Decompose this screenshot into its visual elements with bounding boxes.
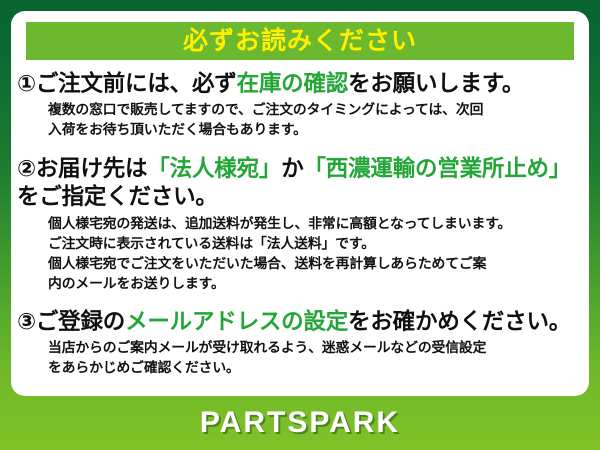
notice-item-1: ①ご注文前には、必ず在庫の確認をお願いします。 複数の窓口で販売してますので、ご… <box>11 70 589 140</box>
notice-item-2-text-before: お届け先は <box>36 156 148 181</box>
notice-item-3-number: ③ <box>17 309 36 334</box>
brand-name: PARTSPARK <box>200 406 400 440</box>
notice-item-2-highlight-1: 「法人様宛」 <box>147 156 281 181</box>
notice-item-3-subtext: 当店からのご案内メールが受け取れるよう、迷惑メールなどの受信設定 をあらかじめご… <box>48 338 581 378</box>
notice-item-2-highlight-2: 「西濃運輸の営業所止め」 <box>304 156 572 181</box>
notice-item-1-text-after: をお願いします。 <box>348 71 524 96</box>
notice-item-3: ③ご登録のメールアドレスの設定をお確かめください。 当店からのご案内メールが受け… <box>11 308 589 378</box>
notice-item-2-subline-4: 内のメールをお送りします。 <box>48 274 581 294</box>
notice-item-3-highlight: メールアドレスの設定 <box>125 309 348 334</box>
notice-item-2-subline-3: 個人様宅宛でご注文をいただいた場合、送料を再計算しあらためてご案 <box>48 254 581 274</box>
notice-item-3-text-after: をお確かめください。 <box>348 309 571 334</box>
notice-item-1-subtext: 複数の窓口で販売してますので、ご注文のタイミングによっては、次回 入荷をお待ち頂… <box>48 100 581 140</box>
banner-title: 必ずお読みください <box>183 29 417 54</box>
notice-item-1-heading: ①ご注文前には、必ず在庫の確認をお願いします。 <box>17 70 581 98</box>
title-bar: 必ずお読みください <box>26 22 574 60</box>
notice-item-2-text-middle: か <box>281 156 303 181</box>
notice-banner: 必ずお読みください ①ご注文前には、必ず在庫の確認をお願いします。 複数の窓口で… <box>0 0 600 450</box>
notice-item-2-number: ② <box>17 156 36 181</box>
notice-item-2: ②お届け先は「法人様宛」か「西濃運輸の営業所止め」をご指定ください。 個人様宅宛… <box>11 155 589 294</box>
notice-item-2-subline-2: ご注文時に表示されている送料は「法人送料」です。 <box>48 234 581 254</box>
notice-item-1-highlight: 在庫の確認 <box>237 71 349 96</box>
notice-item-2-subtext: 個人様宅宛の発送は、追加送料が発生し、非常に高額となってしまいます。 ご注文時に… <box>48 214 581 294</box>
notice-item-3-text-before: ご登録の <box>36 309 125 334</box>
notice-item-1-subline-1: 複数の窓口で販売してますので、ご注文のタイミングによっては、次回 <box>48 100 581 120</box>
notice-item-2-subline-1: 個人様宅宛の発送は、追加送料が発生し、非常に高額となってしまいます。 <box>48 214 581 234</box>
notice-item-list: ①ご注文前には、必ず在庫の確認をお願いします。 複数の窓口で販売してますので、ご… <box>11 68 589 378</box>
notice-item-2-heading: ②お届け先は「法人様宛」か「西濃運輸の営業所止め」をご指定ください。 <box>17 155 581 212</box>
notice-item-3-subline-1: 当店からのご案内メールが受け取れるよう、迷惑メールなどの受信設定 <box>48 338 581 358</box>
notice-item-2-text-after: をご指定ください。 <box>17 184 218 209</box>
notice-item-3-subline-2: をあらかじめご確認ください。 <box>48 358 581 378</box>
notice-item-1-number: ① <box>17 71 36 96</box>
white-content-panel: 必ずお読みください ①ご注文前には、必ず在庫の確認をお願いします。 複数の窓口で… <box>11 11 589 396</box>
notice-item-3-heading: ③ご登録のメールアドレスの設定をお確かめください。 <box>17 308 581 336</box>
notice-item-1-text-before: ご注文前には、必ず <box>36 71 237 96</box>
brand-footer: PARTSPARK <box>0 396 600 450</box>
notice-item-1-subline-2: 入荷をお待ち頂いただく場合もあります。 <box>48 120 581 140</box>
